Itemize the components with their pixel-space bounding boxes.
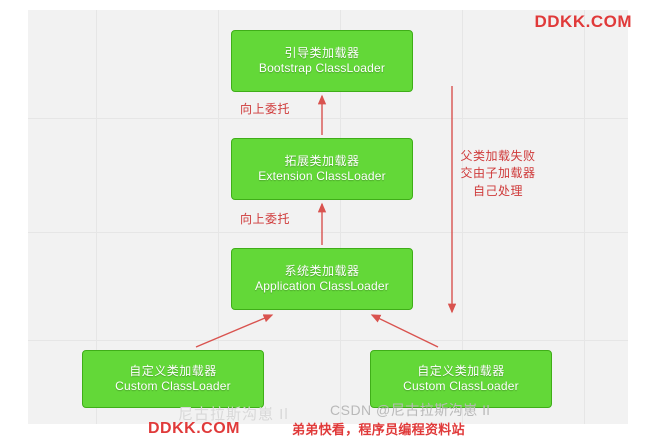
watermark-bottom-right: 弟弟快看，程序员编程资料站 [292,419,465,438]
diagram-canvas: 引导类加载器 Bootstrap ClassLoader 拓展类加载器 Exte… [0,0,646,446]
grid-line-horizontal [28,118,628,119]
node-label-en: Custom ClassLoader [115,379,231,394]
watermark-csdn: CSDN @尼古拉斯沟崽 Il [330,400,490,420]
watermark-top-right: DDKK.COM [535,12,633,32]
node-label-cn: 引导类加载器 [284,46,359,61]
grid-line-vertical [584,10,585,424]
arrow-label-delegate-up-upper: 向上委托 [240,100,290,117]
grid-line-horizontal [28,232,628,233]
node-label-cn: 系统类加载器 [284,264,359,279]
node-label-en: Extension ClassLoader [258,169,386,184]
node-label-en: Application ClassLoader [255,279,389,294]
grid-line-horizontal [28,340,628,341]
node-label-cn: 拓展类加载器 [284,154,359,169]
node-label-en: Bootstrap ClassLoader [259,61,385,76]
node-label-en: Custom ClassLoader [403,379,519,394]
watermark-bottom-left: DDKK.COM [148,420,240,438]
node-bootstrap-classloader[interactable]: 引导类加载器 Bootstrap ClassLoader [231,30,413,92]
node-application-classloader[interactable]: 系统类加载器 Application ClassLoader [231,248,413,310]
node-label-cn: 自定义类加载器 [417,364,505,379]
node-custom-classloader-left[interactable]: 自定义类加载器 Custom ClassLoader [82,350,264,408]
node-extension-classloader[interactable]: 拓展类加载器 Extension ClassLoader [231,138,413,200]
arrow-label-delegate-up-lower: 向上委托 [240,210,290,227]
node-label-cn: 自定义类加载器 [129,364,217,379]
arrow-label-fallback: 父类加载失败交由子加载器自己处理 [455,148,541,200]
